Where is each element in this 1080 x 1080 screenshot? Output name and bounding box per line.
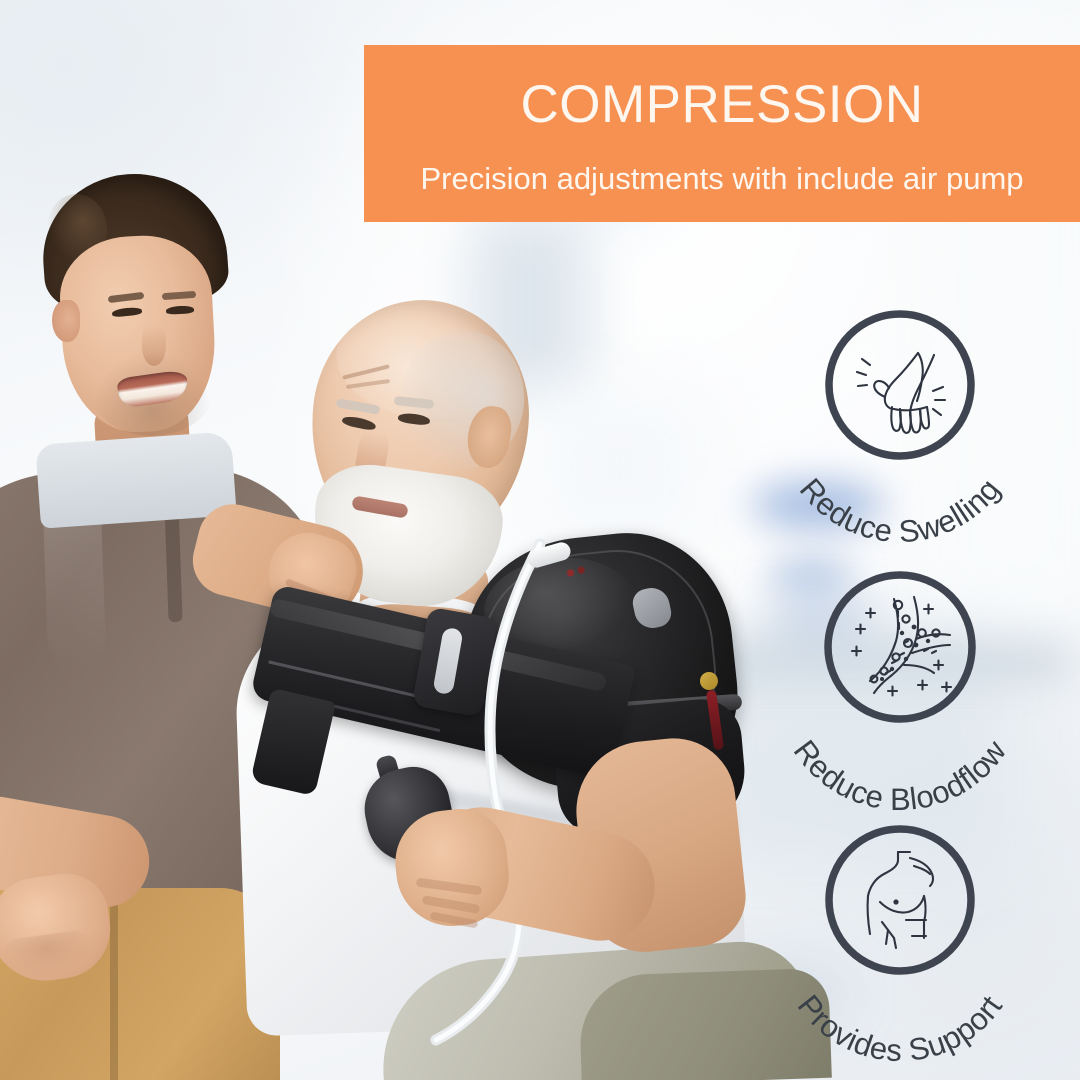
badge-ring-1: [829, 314, 971, 456]
blood-vessel-cells-icon: [852, 597, 951, 696]
feature-badge-provides-support: Provides Support: [760, 815, 1040, 1045]
torso-shoulder-icon: [868, 852, 933, 948]
compression-banner: COMPRESSION Precision adjustments with i…: [364, 45, 1080, 222]
feature-badge-reduce-bloodflow: Reduce Bloodflow: [760, 562, 1040, 792]
feature-badge-reduce-swelling: Reduce Swelling: [760, 300, 1040, 520]
badge-ring-2: [828, 575, 972, 719]
banner-title: COMPRESSION: [520, 78, 923, 131]
product-feature-graphic: COMPRESSION Precision adjustments with i…: [0, 0, 1080, 1080]
banner-subtitle: Precision adjustments with include air p…: [420, 163, 1023, 194]
swollen-hand-icon: [857, 353, 945, 433]
badge-ring-3: [829, 829, 971, 971]
